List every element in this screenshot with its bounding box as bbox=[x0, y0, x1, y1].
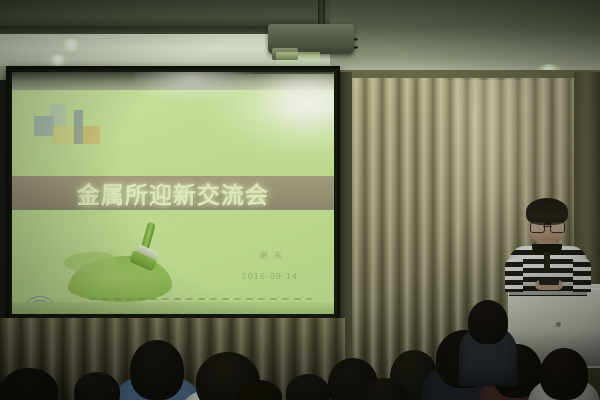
slide-bottom-strip bbox=[12, 302, 334, 314]
presentation-slide: 金属所迎新交流会 谢 东 2016-09-14 Zhejiang Univers… bbox=[12, 90, 334, 314]
presenter-person bbox=[505, 196, 591, 292]
paintbrush-icon bbox=[64, 220, 180, 306]
slide-title: 金属所迎新交流会 bbox=[12, 176, 334, 210]
audience-9-head bbox=[540, 348, 588, 400]
eyeglass-bridge bbox=[543, 226, 552, 227]
slide-deco-square-2 bbox=[50, 104, 66, 126]
presenter-hair bbox=[526, 198, 568, 225]
downlight-icon-1 bbox=[58, 38, 84, 52]
lecture-hall-screenshot: 金属所迎新交流会 谢 东 2016-09-14 Zhejiang Univers… bbox=[0, 0, 600, 400]
audience-1-head bbox=[130, 340, 184, 400]
downlight-icon-2 bbox=[46, 54, 70, 66]
podium-knob-icon bbox=[556, 322, 561, 327]
audience-13-head bbox=[468, 300, 508, 344]
slide-divider bbox=[90, 298, 312, 300]
paint-swath-tail bbox=[64, 252, 116, 272]
projector-mount-rod bbox=[318, 0, 325, 26]
presenter-placket bbox=[544, 252, 550, 268]
eyeglass-lens-right bbox=[550, 222, 565, 233]
screen-top-band bbox=[12, 72, 334, 92]
slide-deco-square-5 bbox=[82, 126, 100, 144]
presenter-handheld-device bbox=[539, 278, 559, 285]
eyeglass-lens-left bbox=[530, 222, 545, 233]
presenter-arm-left bbox=[505, 258, 523, 292]
eyeglasses-icon bbox=[530, 222, 565, 231]
slide-date: 2016-09-14 bbox=[242, 272, 299, 281]
slide-presenter-name: 谢 东 bbox=[259, 250, 284, 261]
presenter-arm-right bbox=[573, 258, 591, 292]
projection-screen: 金属所迎新交流会 谢 东 2016-09-14 Zhejiang Univers… bbox=[12, 72, 334, 314]
